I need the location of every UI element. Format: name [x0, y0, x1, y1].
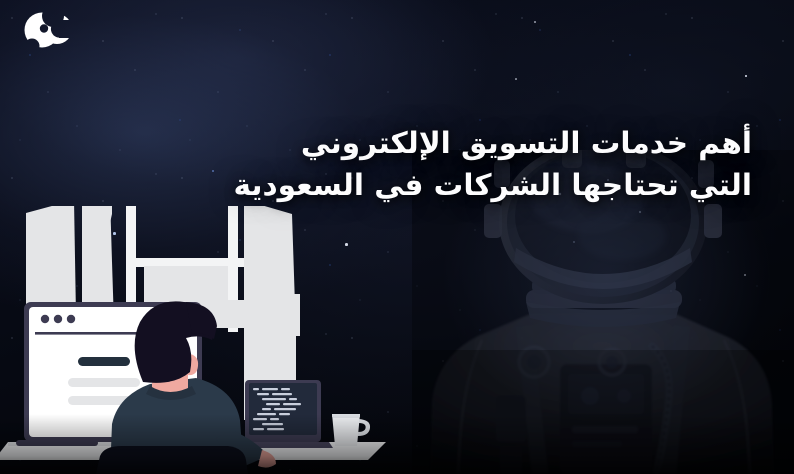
browser-dot — [41, 315, 49, 323]
crescent-c-logo-icon — [22, 10, 74, 50]
laptop — [233, 380, 333, 448]
headline-line-1: أهم خدمات التسويق الإلكتروني — [32, 122, 752, 164]
star-bright — [515, 78, 517, 80]
browser-dot — [54, 315, 62, 323]
headline-line-2: التي تحتاجها الشركات في السعودية — [32, 164, 752, 206]
page-title: أهم خدمات التسويق الإلكتروني التي تحتاجه… — [32, 122, 752, 207]
coffee-mug — [332, 414, 370, 446]
developer-illustration — [0, 206, 400, 474]
brand-logo[interactable] — [22, 10, 74, 50]
content-heading-bar — [78, 357, 130, 366]
developer-illustration-svg — [0, 206, 400, 474]
browser-dot — [67, 315, 75, 323]
star-bright — [534, 21, 536, 23]
office-chair — [96, 446, 248, 474]
hero-banner: أهم خدمات التسويق الإلكتروني التي تحتاجه… — [0, 0, 794, 474]
content-line — [68, 378, 140, 387]
